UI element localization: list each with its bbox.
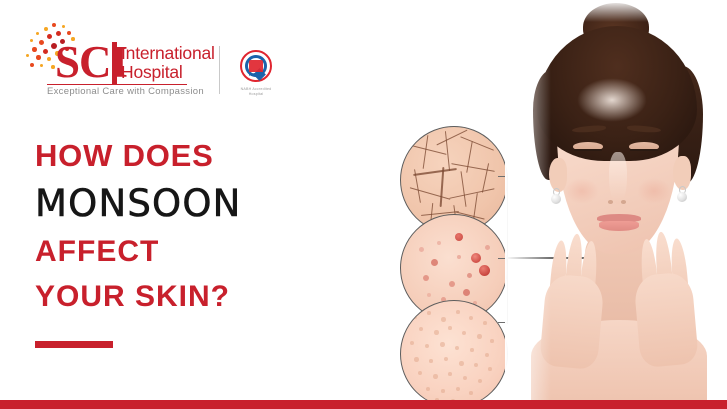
- logo-name: International Hospital: [121, 44, 215, 82]
- cheek-right: [637, 178, 671, 204]
- ear-left: [549, 158, 567, 192]
- nostril-left: [608, 200, 613, 204]
- logo-divider: [219, 46, 220, 94]
- portrait-top-fade: [505, 0, 727, 22]
- logo-name-line-2: Hospital: [121, 63, 215, 82]
- bottom-accent-bar: [0, 400, 727, 409]
- forehead-highlight: [577, 78, 647, 122]
- earring-left-pearl: [551, 194, 561, 204]
- logo-vertical-accent: [112, 42, 117, 84]
- eyelash-left: [574, 149, 602, 151]
- eye-right-closed: [629, 142, 659, 151]
- model-nose: [609, 152, 627, 204]
- nabh-inner-mark: [249, 60, 263, 72]
- circle-enlarged-pores-oily-skin: [400, 300, 508, 408]
- hand-right: [625, 224, 699, 369]
- earring-right-pearl: [677, 192, 687, 202]
- banner-root: SCI International Hospital Exceptional C…: [0, 0, 727, 409]
- eyelash-right: [630, 149, 658, 151]
- earring-right: [675, 186, 688, 202]
- headline-underline-rule: [35, 341, 113, 348]
- nabh-caption: NABH Accredited Hospital: [234, 87, 278, 97]
- headline-line-4: YOUR SKIN?: [35, 282, 365, 312]
- portrait-left-fade: [505, 0, 551, 400]
- nabh-accreditation-seal-icon: NABH NABH Accredited Hospital: [234, 50, 278, 98]
- headline-block: HOW DOES MONSOON AFFECT YOUR SKIN?: [35, 140, 365, 312]
- logo-rule: [47, 84, 187, 85]
- ear-right: [673, 156, 691, 190]
- enlarged-pores-texture: [401, 301, 507, 407]
- eye-left-closed: [573, 142, 603, 151]
- logo-area[interactable]: SCI International Hospital Exceptional C…: [0, 0, 300, 110]
- headline-line-3: AFFECT: [35, 237, 365, 267]
- headline-line-1: HOW DOES: [35, 140, 365, 171]
- model-portrait: [505, 0, 727, 400]
- headline-line-2: MONSOON: [35, 185, 365, 222]
- palm-right: [633, 271, 699, 368]
- logo-tagline: Exceptional Care with Compassion: [47, 86, 204, 97]
- nabh-letters: NABH: [247, 72, 265, 77]
- logo-name-line-1: International: [121, 44, 215, 63]
- nostril-right: [621, 200, 626, 204]
- cheek-left: [565, 178, 599, 204]
